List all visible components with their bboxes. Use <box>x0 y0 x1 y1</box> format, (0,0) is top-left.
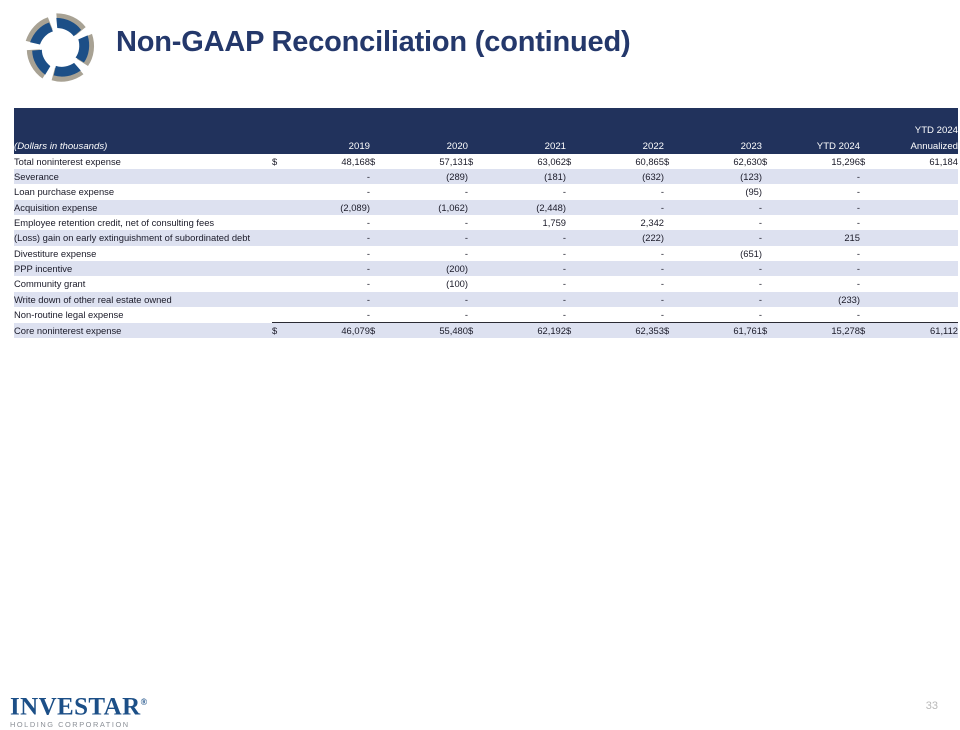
row-value: 63,062 <box>490 154 566 169</box>
row-currency-symbol <box>566 307 588 323</box>
row-value: - <box>392 230 468 245</box>
total-row-value: 46,079 <box>294 323 370 339</box>
registered-mark-icon: ® <box>141 697 148 707</box>
row-label: PPP incentive <box>14 261 272 276</box>
row-value: (222) <box>588 230 664 245</box>
row-value: (95) <box>686 184 762 199</box>
column-header-sign-2020 <box>370 123 392 154</box>
investar-wordmark: INVESTAR® HOLDING CORPORATION <box>10 690 150 724</box>
column-header-sign-2019 <box>272 123 294 154</box>
row-value: - <box>294 215 370 230</box>
row-value: - <box>686 261 762 276</box>
total-row-value: 62,192 <box>490 323 566 339</box>
column-header-2022: 2022 <box>588 123 664 154</box>
row-currency-symbol <box>664 307 686 323</box>
row-currency-symbol <box>468 200 490 215</box>
row-value: - <box>294 261 370 276</box>
row-value: - <box>686 230 762 245</box>
row-value: (123) <box>686 169 762 184</box>
row-currency-symbol <box>468 215 490 230</box>
row-currency-symbol <box>860 307 882 323</box>
row-label: Divestiture expense <box>14 246 272 261</box>
row-label: Community grant <box>14 276 272 291</box>
row-value: - <box>784 169 860 184</box>
row-currency-symbol <box>370 169 392 184</box>
row-currency-symbol <box>762 261 784 276</box>
row-currency-symbol: $ <box>272 154 294 169</box>
row-value: 60,865 <box>588 154 664 169</box>
row-value: - <box>490 261 566 276</box>
row-label: Employee retention credit, net of consul… <box>14 215 272 230</box>
row-value: - <box>392 292 468 307</box>
slide-header: Non-GAAP Reconciliation (continued) <box>0 0 960 100</box>
row-currency-symbol <box>860 246 882 261</box>
row-currency-symbol: $ <box>468 154 490 169</box>
row-value: - <box>294 276 370 291</box>
row-currency-symbol <box>272 261 294 276</box>
row-currency-symbol <box>566 246 588 261</box>
row-value: (100) <box>392 276 468 291</box>
row-value: - <box>686 200 762 215</box>
row-value <box>882 169 958 184</box>
row-currency-symbol <box>860 184 882 199</box>
row-currency-symbol <box>566 261 588 276</box>
row-currency-symbol <box>468 246 490 261</box>
row-value: (2,089) <box>294 200 370 215</box>
row-value: (289) <box>392 169 468 184</box>
row-value: 61,184 <box>882 154 958 169</box>
row-value <box>882 215 958 230</box>
row-value: (651) <box>686 246 762 261</box>
table-body: Total noninterest expense$48,168$57,131$… <box>14 154 958 339</box>
row-currency-symbol <box>664 184 686 199</box>
row-value: - <box>686 276 762 291</box>
row-label: Severance <box>14 169 272 184</box>
table-row: Acquisition expense(2,089)(1,062)(2,448)… <box>14 200 958 215</box>
row-currency-symbol <box>370 215 392 230</box>
row-value: - <box>490 292 566 307</box>
row-value: - <box>294 184 370 199</box>
row-currency-symbol <box>272 215 294 230</box>
row-currency-symbol <box>762 292 784 307</box>
row-currency-symbol <box>370 276 392 291</box>
row-currency-symbol <box>272 230 294 245</box>
row-currency-symbol <box>468 307 490 323</box>
row-currency-symbol: $ <box>762 154 784 169</box>
table-row: Severance-(289)(181)(632)(123)- <box>14 169 958 184</box>
row-currency-symbol: $ <box>664 154 686 169</box>
column-header-ytd-2024: YTD 2024 <box>784 123 860 154</box>
row-currency-symbol <box>566 215 588 230</box>
column-header-ytd-2024-annualized-line1: YTD 2024 <box>915 125 958 136</box>
row-value: - <box>686 215 762 230</box>
table-row: Community grant-(100)---- <box>14 276 958 291</box>
row-value <box>882 276 958 291</box>
column-header-2023: 2023 <box>686 123 762 154</box>
column-header-sign-2021 <box>468 123 490 154</box>
row-value: - <box>784 215 860 230</box>
column-header-2020: 2020 <box>392 123 468 154</box>
table-row: Write down of other real estate owned---… <box>14 292 958 307</box>
row-currency-symbol <box>468 261 490 276</box>
investar-wordmark-text: INVESTAR® <box>10 690 150 719</box>
investar-wordmark-subtitle: HOLDING CORPORATION <box>10 720 150 729</box>
total-row-value: 15,278 <box>784 323 860 339</box>
column-header-sign-2022 <box>566 123 588 154</box>
row-value: - <box>294 230 370 245</box>
investar-swirl-logo <box>12 6 108 94</box>
row-value: - <box>490 276 566 291</box>
row-currency-symbol <box>468 292 490 307</box>
row-value: - <box>294 292 370 307</box>
total-row-currency-symbol: $ <box>860 323 882 339</box>
row-value: 62,630 <box>686 154 762 169</box>
row-currency-symbol <box>860 169 882 184</box>
table-row: Total noninterest expense$48,168$57,131$… <box>14 154 958 169</box>
column-header-sign-ytd-2024 <box>762 123 784 154</box>
row-currency-symbol <box>370 261 392 276</box>
row-currency-symbol <box>468 184 490 199</box>
row-currency-symbol: $ <box>566 154 588 169</box>
row-currency-symbol <box>272 169 294 184</box>
row-currency-symbol <box>468 276 490 291</box>
row-value: (200) <box>392 261 468 276</box>
table-total-row: Core noninterest expense$46,079$55,480$6… <box>14 323 958 339</box>
row-value: - <box>784 307 860 323</box>
row-currency-symbol: $ <box>860 154 882 169</box>
row-currency-symbol <box>664 261 686 276</box>
table-row: Loan purchase expense----(95)- <box>14 184 958 199</box>
row-value <box>882 230 958 245</box>
row-value: (181) <box>490 169 566 184</box>
table-header-row: (Dollars in thousands) 2019 2020 2021 20… <box>14 123 958 154</box>
row-value: - <box>784 184 860 199</box>
total-row-value: 55,480 <box>392 323 468 339</box>
row-currency-symbol <box>370 292 392 307</box>
row-value: - <box>588 261 664 276</box>
row-currency-symbol <box>468 169 490 184</box>
row-value: - <box>588 246 664 261</box>
row-value: - <box>392 307 468 323</box>
row-currency-symbol <box>272 276 294 291</box>
row-value: - <box>588 184 664 199</box>
row-currency-symbol <box>762 215 784 230</box>
row-value: 48,168 <box>294 154 370 169</box>
row-value: - <box>490 184 566 199</box>
column-header-sign-ytd-2024-annualized <box>860 123 882 154</box>
page-number: 33 <box>926 700 938 712</box>
row-currency-symbol <box>860 261 882 276</box>
row-value <box>882 307 958 323</box>
total-row-currency-symbol: $ <box>468 323 490 339</box>
row-currency-symbol <box>762 184 784 199</box>
row-currency-symbol: $ <box>370 154 392 169</box>
row-value: - <box>784 276 860 291</box>
row-currency-symbol <box>762 307 784 323</box>
total-row-currency-symbol: $ <box>664 323 686 339</box>
row-value: 15,296 <box>784 154 860 169</box>
row-currency-symbol <box>762 200 784 215</box>
row-value <box>882 246 958 261</box>
row-value <box>882 184 958 199</box>
table-row: Divestiture expense----(651)- <box>14 246 958 261</box>
row-currency-symbol <box>664 246 686 261</box>
row-currency-symbol <box>860 230 882 245</box>
row-label: Acquisition expense <box>14 200 272 215</box>
total-row-currency-symbol: $ <box>272 323 294 339</box>
table-header: (Dollars in thousands) 2019 2020 2021 20… <box>14 108 958 154</box>
total-row-value: 61,761 <box>686 323 762 339</box>
row-label: Non-routine legal expense <box>14 307 272 323</box>
row-currency-symbol <box>860 200 882 215</box>
row-value: - <box>294 169 370 184</box>
row-currency-symbol <box>370 246 392 261</box>
row-currency-symbol <box>664 169 686 184</box>
row-currency-symbol <box>566 184 588 199</box>
table-row: Non-routine legal expense------ <box>14 307 958 323</box>
row-value: - <box>784 261 860 276</box>
page-title: Non-GAAP Reconciliation (continued) <box>116 26 630 59</box>
table-row: PPP incentive-(200)---- <box>14 261 958 276</box>
row-value: - <box>392 215 468 230</box>
row-currency-symbol <box>566 230 588 245</box>
non-gaap-reconciliation-table: (Dollars in thousands) 2019 2020 2021 20… <box>14 108 958 338</box>
row-currency-symbol <box>664 276 686 291</box>
row-currency-symbol <box>370 307 392 323</box>
row-value <box>882 292 958 307</box>
row-value: 2,342 <box>588 215 664 230</box>
row-currency-symbol <box>468 230 490 245</box>
row-currency-symbol <box>762 230 784 245</box>
column-header-sign-2023 <box>664 123 686 154</box>
total-row-value: 61,112 <box>882 323 958 339</box>
row-label: Total noninterest expense <box>14 154 272 169</box>
total-row-currency-symbol: $ <box>762 323 784 339</box>
table-row: Employee retention credit, net of consul… <box>14 215 958 230</box>
row-currency-symbol <box>664 230 686 245</box>
total-row-currency-symbol: $ <box>370 323 392 339</box>
row-currency-symbol <box>664 292 686 307</box>
row-value: - <box>588 292 664 307</box>
row-currency-symbol <box>664 215 686 230</box>
row-value: - <box>686 292 762 307</box>
row-value <box>882 200 958 215</box>
row-currency-symbol <box>664 200 686 215</box>
row-currency-symbol <box>762 169 784 184</box>
row-currency-symbol <box>272 307 294 323</box>
total-row-value: 62,353 <box>588 323 664 339</box>
row-value: 215 <box>784 230 860 245</box>
investar-wordmark-name: INVESTAR <box>10 693 141 720</box>
row-currency-symbol <box>370 184 392 199</box>
row-label: Loan purchase expense <box>14 184 272 199</box>
column-header-ytd-2024-annualized-line2: Annualized <box>911 141 958 152</box>
row-currency-symbol <box>762 276 784 291</box>
row-currency-symbol <box>860 215 882 230</box>
row-value: (2,448) <box>490 200 566 215</box>
row-value: - <box>294 307 370 323</box>
row-currency-symbol <box>272 246 294 261</box>
row-value: - <box>784 200 860 215</box>
column-header-ytd-2024-annualized: YTD 2024 Annualized <box>882 123 958 154</box>
row-currency-symbol <box>762 246 784 261</box>
row-currency-symbol <box>566 292 588 307</box>
row-value: (632) <box>588 169 664 184</box>
row-label: (Loss) gain on early extinguishment of s… <box>14 230 272 245</box>
table-header-spacer <box>14 108 958 123</box>
row-value: (233) <box>784 292 860 307</box>
row-currency-symbol <box>272 200 294 215</box>
row-value: (1,062) <box>392 200 468 215</box>
row-currency-symbol <box>370 200 392 215</box>
row-currency-symbol <box>566 276 588 291</box>
row-value: 57,131 <box>392 154 468 169</box>
row-value: - <box>490 246 566 261</box>
column-header-2019: 2019 <box>294 123 370 154</box>
row-value: 1,759 <box>490 215 566 230</box>
total-row-currency-symbol: $ <box>566 323 588 339</box>
row-currency-symbol <box>370 230 392 245</box>
total-row-label: Core noninterest expense <box>14 323 272 339</box>
row-value: - <box>784 246 860 261</box>
row-currency-symbol <box>272 184 294 199</box>
row-currency-symbol <box>272 292 294 307</box>
row-value: - <box>490 230 566 245</box>
column-header-2021: 2021 <box>490 123 566 154</box>
row-value: - <box>686 307 762 323</box>
row-value: - <box>588 200 664 215</box>
row-value: - <box>588 307 664 323</box>
row-value: - <box>392 246 468 261</box>
row-value: - <box>294 246 370 261</box>
row-value: - <box>392 184 468 199</box>
row-currency-symbol <box>860 276 882 291</box>
row-currency-symbol <box>566 200 588 215</box>
row-value: - <box>490 307 566 323</box>
row-label: Write down of other real estate owned <box>14 292 272 307</box>
row-value: - <box>588 276 664 291</box>
row-currency-symbol <box>566 169 588 184</box>
row-currency-symbol <box>860 292 882 307</box>
row-value <box>882 261 958 276</box>
column-header-label: (Dollars in thousands) <box>14 123 272 154</box>
table-row: (Loss) gain on early extinguishment of s… <box>14 230 958 245</box>
